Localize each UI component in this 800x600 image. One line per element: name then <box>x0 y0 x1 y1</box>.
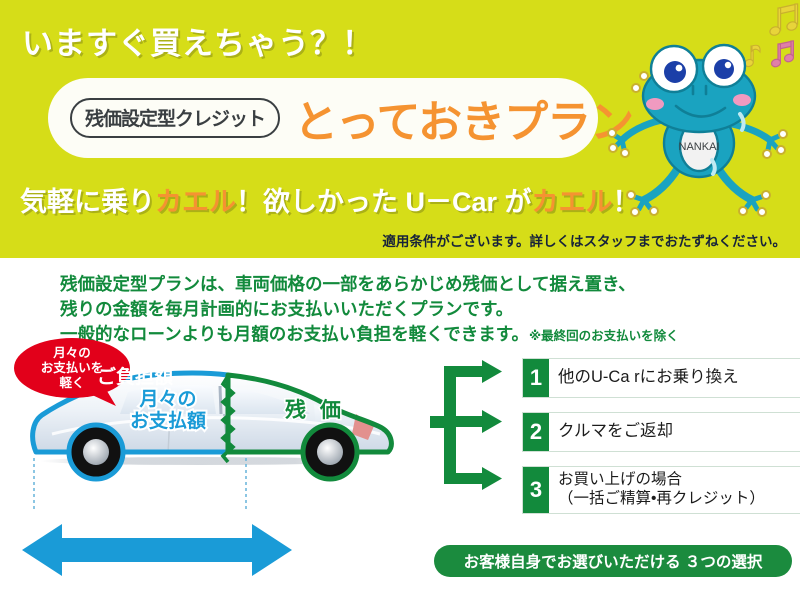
option-text-2: クルマをご返却 <box>549 413 800 451</box>
bottom-banner: お客様自身でお選びいただける ３つの選択 <box>434 545 792 577</box>
tagline-part2: ！欲しかった U－Car が <box>236 187 532 217</box>
plan-description: 残価設定型プランは、車両価格の一部をあらかじめ残価として据え置き、 残りの金額を… <box>60 272 679 347</box>
tagline-text: 気軽に乗りカエル！欲しかった U－Car がカエル！ <box>20 180 640 219</box>
advertisement-page: いますぐ買えちゃう？！ 残価設定型クレジット とっておきプラン 気軽に乗りカエル… <box>0 0 800 600</box>
speech-balloon <box>12 336 132 408</box>
fine-print-text: 適用条件がございます。詳しくはスタッフまでおたずねください。 <box>382 230 786 250</box>
label-monthly-payment-line-1: 月々の <box>130 389 206 411</box>
option-row-2[interactable]: 2 クルマをご返却 <box>522 412 800 452</box>
plan-name-title: とっておきプラン <box>294 86 633 150</box>
label-monthly-payment-line-2: お支払額 <box>130 411 206 433</box>
option-row-3[interactable]: 3 お買い上げの場合 （一括ご精算•再クレジット） <box>522 466 800 514</box>
label-monthly-payment: 月々の お支払額 <box>130 389 206 433</box>
option-row-1[interactable]: 1 他のU-Ca rにお乗り換え <box>522 358 800 398</box>
headline-text: いますぐ買えちゃう？！ <box>22 18 374 63</box>
car-diagram: 月々の お支払いを 軽く 月々の お支払額 残 価 ご負担額 <box>0 342 440 522</box>
description-line-1: 残価設定型プランは、車両価格の一部をあらかじめ残価として据え置き、 <box>60 272 679 297</box>
label-residual-value: 残 価 <box>285 394 345 424</box>
option-text-1: 他のU-Ca rにお乗り換え <box>549 359 800 397</box>
mascot-belly-label: NANKAI <box>679 141 720 153</box>
option-number-2: 2 <box>523 413 549 451</box>
option-number-1: 1 <box>523 359 549 397</box>
tagline-part1: 気軽に乗り <box>20 187 155 217</box>
branch-arrows-icon <box>430 358 520 498</box>
option-number-3: 3 <box>523 467 549 513</box>
option-text-3: お買い上げの場合 （一括ご精算•再クレジット） <box>549 467 800 513</box>
title-pill: 残価設定型クレジット とっておきプラン <box>48 78 598 158</box>
burden-amount-arrow <box>22 518 292 582</box>
description-line-2: 残りの金額を毎月計画的にお支払いいただくプランです。 <box>60 297 679 322</box>
description-line-3-note: ※最終回のお支払いを除く <box>529 329 679 343</box>
credit-type-badge: 残価設定型クレジット <box>70 98 280 138</box>
options-group: 1 他のU-Ca rにお乗り換え 2 クルマをご返却 3 お買い上げの場合 （一… <box>430 358 800 538</box>
tagline-highlight1: カエル <box>155 187 236 217</box>
header-banner: いますぐ買えちゃう？！ 残価設定型クレジット とっておきプラン 気軽に乗りカエル… <box>0 0 800 258</box>
frog-mascot-icon: NANKAI <box>600 28 800 228</box>
